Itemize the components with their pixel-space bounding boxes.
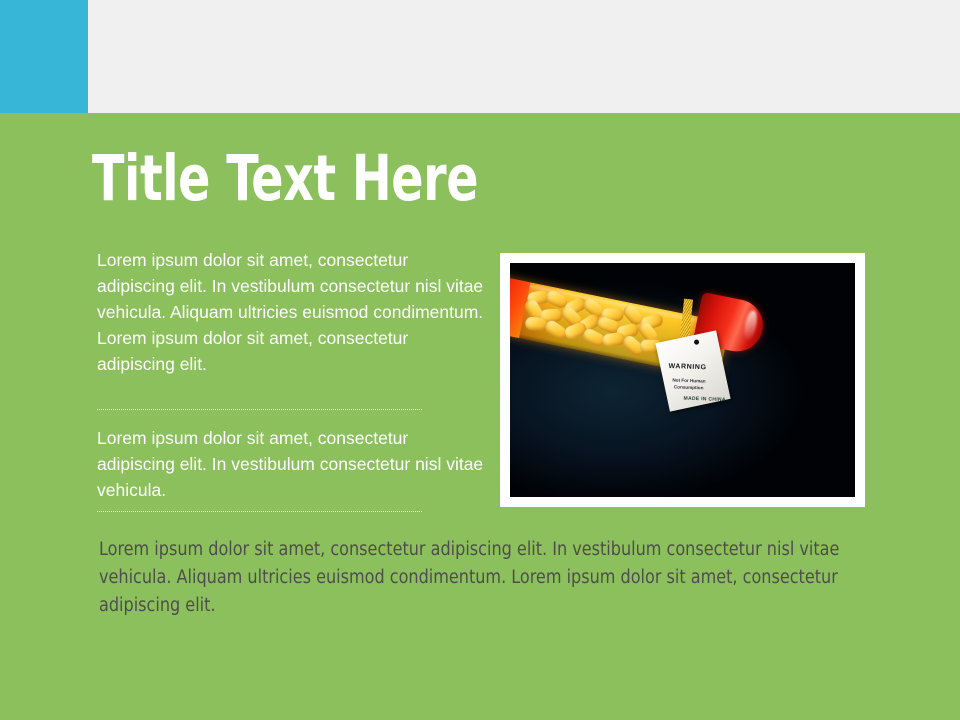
tag-line-2-text: Consumption [674,384,704,390]
stopper-highlight [742,309,759,341]
tag-origin-text: MADE IN CHINA [683,396,725,403]
header-band [0,0,960,113]
picture-frame: WARNING Not For Human Consumption MADE I… [500,253,865,507]
slide-canvas: Title Text Here Lorem ipsum dolor sit am… [0,0,960,720]
body-paragraph-3: Lorem ipsum dolor sit amet, consectetur … [99,536,854,620]
accent-block-blue [0,0,88,113]
divider-dotted-1 [97,409,422,410]
body-paragraph-1: Lorem ipsum dolor sit amet, consectetur … [97,247,489,377]
tag-hole [694,339,700,345]
divider-dotted-2 [97,511,422,512]
tag-line-1-text: Not For Human [672,377,705,383]
body-paragraph-2: Lorem ipsum dolor sit amet, consectetur … [97,425,489,503]
page-title: Title Text Here [92,147,478,211]
tag-title-text: WARNING [668,363,706,371]
photo-capsule-tube: WARNING Not For Human Consumption MADE I… [510,263,855,497]
